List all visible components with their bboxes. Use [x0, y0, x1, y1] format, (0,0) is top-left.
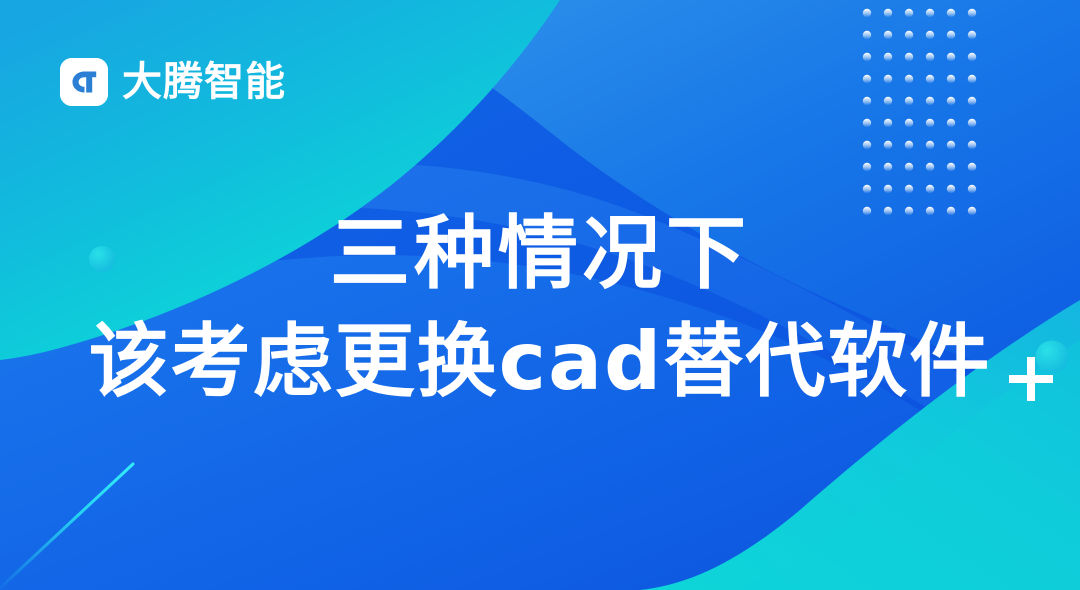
brand-name: 大腾智能: [122, 62, 286, 102]
ct-monogram-icon: [60, 58, 108, 106]
headline-line-2: 该考虑更换cad替代软件: [0, 313, 1080, 411]
brand-logo[interactable]: 大腾智能: [60, 58, 286, 106]
promo-banner: 大腾智能 三种情况下 该考虑更换cad替代软件: [0, 0, 1080, 590]
headline-line-1: 三种情况下: [0, 205, 1080, 303]
headline: 三种情况下 该考虑更换cad替代软件: [0, 205, 1080, 410]
